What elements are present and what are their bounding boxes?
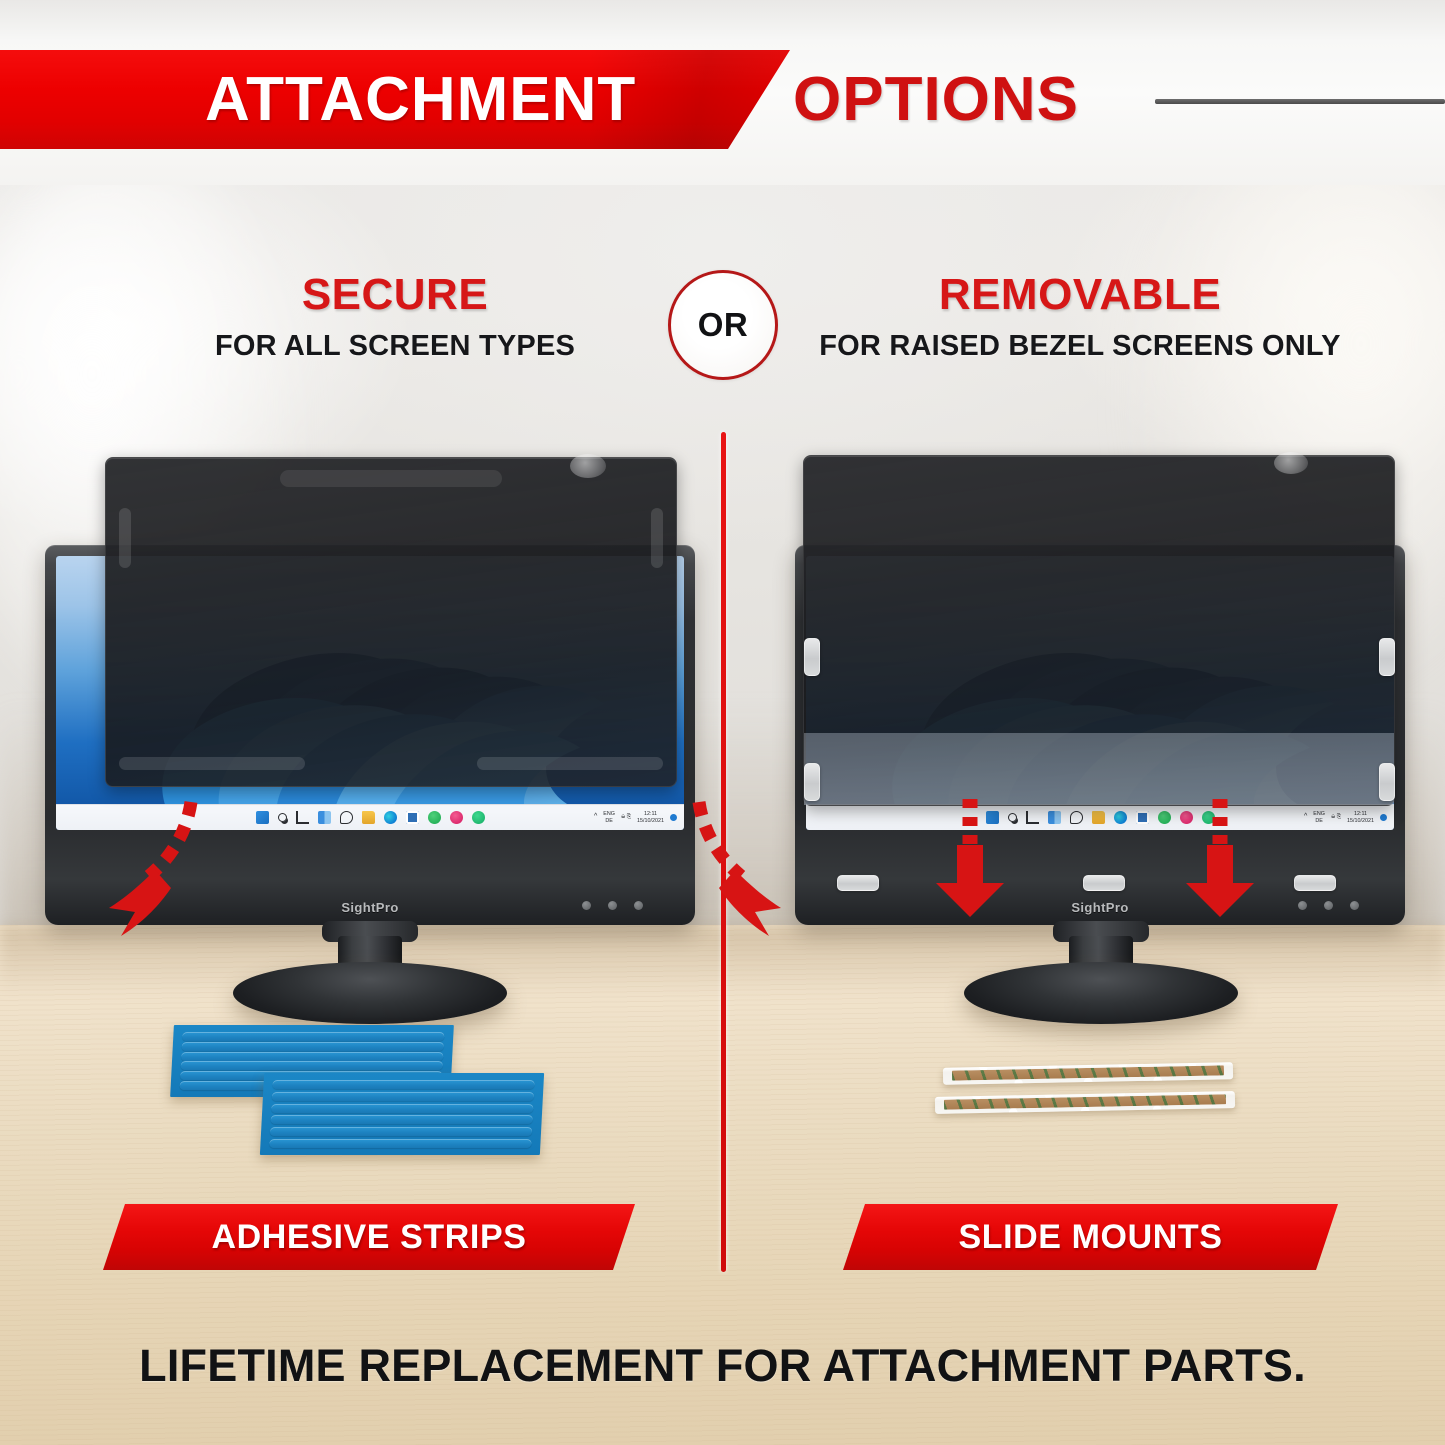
arrow-left-dash-trail (149, 802, 191, 876)
tray-notification-icon[interactable] (1380, 814, 1387, 821)
slide-mount-clip-right-upper (1379, 638, 1395, 676)
app-green-icon[interactable] (1158, 811, 1171, 824)
monitor-right-buttons[interactable] (1298, 901, 1359, 910)
or-badge-label: OR (698, 306, 749, 344)
arrow-down-right-head (1186, 845, 1254, 917)
monitor-led-2[interactable] (1324, 901, 1333, 910)
privacy-filter-left[interactable] (105, 457, 677, 787)
app-teal-icon[interactable] (472, 811, 485, 824)
slide-mount-clip-bottom-left (837, 875, 879, 891)
part-label-slide-mounts-text: SLIDE MOUNTS (958, 1218, 1222, 1257)
arrow-left-head (109, 870, 171, 936)
tray-language[interactable]: ENGDE (1313, 811, 1325, 824)
part-label-slide-mounts: SLIDE MOUNTS (843, 1204, 1338, 1270)
tray-network-icon[interactable]: ⎒ ⎘ (1331, 814, 1341, 820)
adhesive-strip (181, 1061, 443, 1070)
monitor-right-stand-base (964, 962, 1238, 1024)
slide-mount-clip-left-lower (804, 763, 820, 801)
section-heading-removable: REMOVABLE FOR RAISED BEZEL SCREENS ONLY (760, 272, 1400, 363)
file-explorer-icon[interactable] (362, 811, 375, 824)
filter-lower-band-right (804, 733, 1394, 805)
adhesive-strip (181, 1052, 443, 1061)
section-heading-secure: SECURE FOR ALL SCREEN TYPES (95, 272, 695, 363)
filter-bottom-tab-left-1 (119, 757, 305, 770)
arrow-right-outer (575, 790, 795, 950)
arrow-down-left (930, 795, 1010, 920)
adhesive-strip-sheet-2 (260, 1073, 544, 1155)
arrow-down-right (1180, 795, 1260, 920)
adhesive-strip (269, 1139, 531, 1148)
footer-text: LIFETIME REPLACEMENT FOR ATTACHMENT PART… (0, 1340, 1445, 1392)
tray-clock-right[interactable]: 12:1115/10/2021 (1347, 811, 1374, 824)
monitor-left-stand-base (233, 962, 507, 1024)
part-label-adhesive-strips: ADHESIVE STRIPS (103, 1204, 635, 1270)
slide-mount-clip-bottom-right (1294, 875, 1336, 891)
header-title: ATTACHMENT (205, 50, 636, 149)
store-icon[interactable] (406, 811, 419, 824)
edge-icon[interactable] (1114, 811, 1127, 824)
chat-icon[interactable] (340, 811, 353, 824)
monitor-led-1[interactable] (1298, 901, 1307, 910)
header-rule (1155, 99, 1445, 104)
slide-mount-clip-right-lower (1379, 763, 1395, 801)
slide-mount-clip-left-upper (804, 638, 820, 676)
chat-icon[interactable] (1070, 811, 1083, 824)
arrow-left-outer (95, 790, 315, 950)
file-explorer-icon[interactable] (1092, 811, 1105, 824)
adhesive-strip (270, 1127, 532, 1136)
filter-camera-cutout-left (570, 454, 606, 478)
monitor-led-3[interactable] (1350, 901, 1359, 910)
arrow-down-left-head (936, 845, 1004, 917)
adhesive-strip (271, 1104, 533, 1113)
filter-side-tab-left-1 (119, 508, 131, 568)
arrow-right-head (719, 870, 781, 936)
tray-chevron-icon[interactable]: ^ (1304, 813, 1307, 821)
taskbar-tray-right[interactable]: ^ ENGDE ⎒ ⎘ 12:1115/10/2021 (1304, 805, 1387, 830)
edge-icon[interactable] (384, 811, 397, 824)
adhesive-strip (270, 1115, 532, 1124)
section-title-removable: REMOVABLE (760, 272, 1400, 318)
infographic-canvas: ATTACHMENT OPTIONS SECURE FOR ALL SCREEN… (0, 0, 1445, 1445)
slide-mount-clip-bottom-center (1083, 875, 1125, 891)
adhesive-strip (272, 1080, 534, 1089)
filter-camera-cutout-right (1274, 452, 1308, 474)
task-view-icon[interactable] (1026, 811, 1039, 824)
arrow-right-dash-trail (699, 802, 741, 876)
widgets-icon[interactable] (1048, 811, 1061, 824)
adhesive-strip (272, 1092, 534, 1101)
part-label-adhesive-strips-text: ADHESIVE STRIPS (211, 1218, 526, 1257)
app-green-icon[interactable] (428, 811, 441, 824)
header: ATTACHMENT OPTIONS (0, 0, 1445, 185)
privacy-filter-right[interactable] (803, 455, 1395, 806)
store-icon[interactable] (1136, 811, 1149, 824)
taskbar-right[interactable]: ^ ENGDE ⎒ ⎘ 12:1115/10/2021 (806, 804, 1394, 830)
adhesive-strip (182, 1032, 444, 1041)
filter-notch-left (280, 470, 502, 487)
section-title-secure: SECURE (95, 272, 695, 318)
header-accent-title: OPTIONS (793, 50, 1079, 149)
app-pink-icon[interactable] (450, 811, 463, 824)
section-subtitle-removable: FOR RAISED BEZEL SCREENS ONLY (760, 330, 1400, 363)
filter-bottom-tab-left-2 (477, 757, 663, 770)
filter-side-tab-left-2 (651, 508, 663, 568)
section-subtitle-secure: FOR ALL SCREEN TYPES (95, 330, 695, 363)
widgets-icon[interactable] (318, 811, 331, 824)
adhesive-strip (182, 1042, 444, 1051)
